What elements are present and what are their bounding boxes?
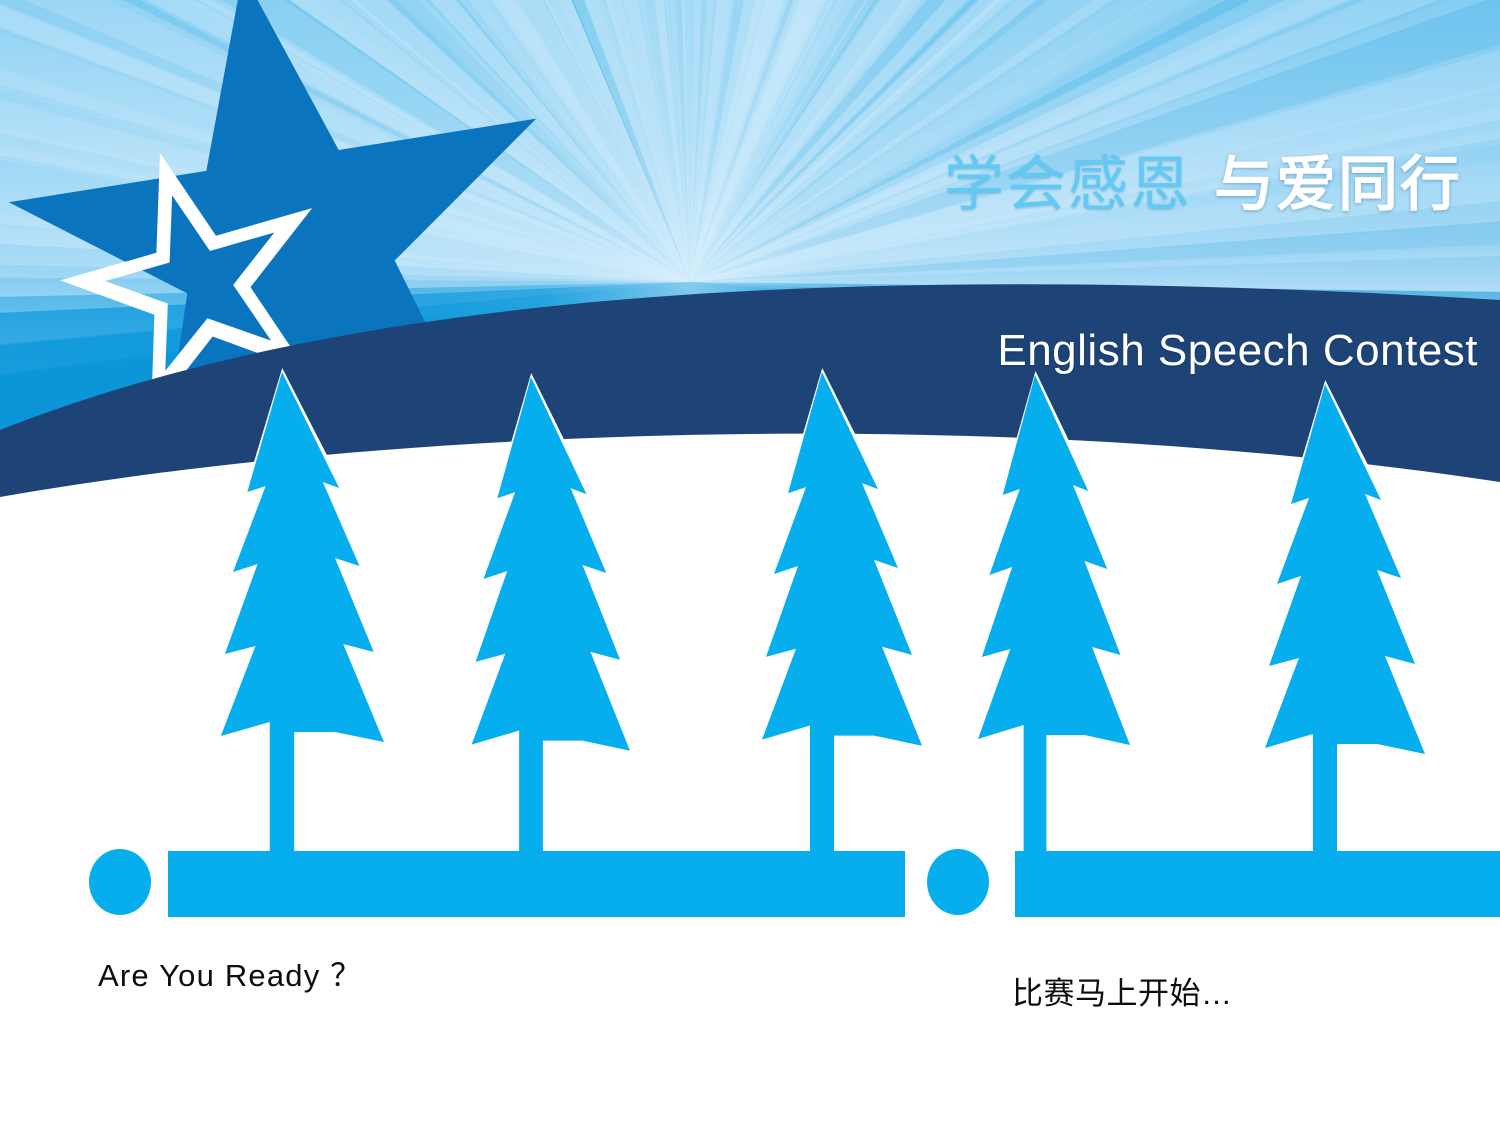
- slide-subtitle: English Speech Contest: [997, 327, 1478, 375]
- caption-contest-starting: 比赛马上开始…: [1012, 968, 1233, 1013]
- slide-title: 学会感恩与爱同行: [944, 155, 1462, 215]
- title-part-love: 与爱同行: [1214, 155, 1462, 215]
- tree-icon-5: [1262, 380, 1431, 882]
- ground-dot-right: [927, 849, 989, 915]
- caption-are-you-ready: Are You Ready ？: [98, 950, 362, 995]
- ground-bar-right: [1015, 851, 1500, 917]
- title-part-gratitude: 学会感恩: [944, 155, 1192, 215]
- tree-icon-1: [218, 368, 390, 870]
- tree-icon-4: [975, 371, 1136, 873]
- tree-icon-2: [469, 373, 636, 880]
- ground-dot-left: [89, 849, 151, 915]
- ground-bar-left: [168, 851, 905, 917]
- presentation-slide: 学会感恩与爱同行 English Speech Contest Are You …: [0, 0, 1500, 1125]
- tree-icon-3: [759, 368, 928, 875]
